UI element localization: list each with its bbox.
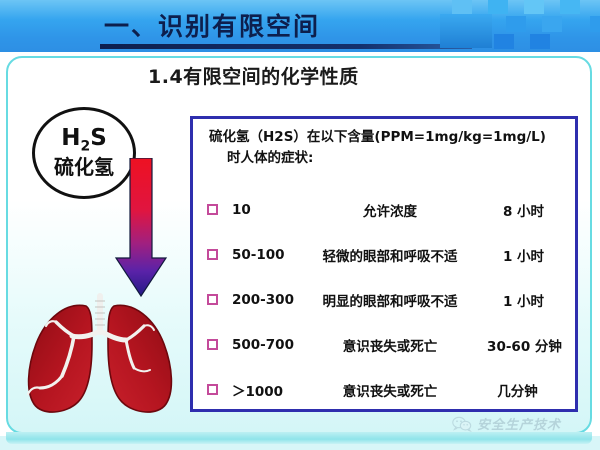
h2s-formula-2: 2 — [80, 139, 90, 155]
cell-symptom: 轻微的眼部和呼吸不适 — [304, 245, 476, 265]
slide-header: 一、识别有限空间 — [0, 0, 600, 52]
title-underline — [100, 44, 472, 49]
cell-duration: 1 小时 — [476, 290, 575, 310]
down-arrow-icon — [113, 158, 169, 298]
cell-concentration: ＞1000 — [218, 380, 304, 400]
bullet-square-icon — [207, 294, 218, 305]
h2s-chinese-name: 硫化氢 — [54, 156, 114, 179]
cell-symptom: 意识丧失或死亡 — [304, 380, 476, 400]
header-checker-pattern — [440, 0, 600, 52]
cell-symptom: 允许浓度 — [304, 200, 476, 220]
cell-duration: 几分钟 — [476, 380, 575, 400]
cell-symptom: 意识丧失或死亡 — [304, 335, 476, 355]
bullet-square-icon — [207, 249, 218, 260]
table-row: 200-300 明显的眼部和呼吸不适 1 小时 — [193, 277, 575, 322]
table-row: 50-100 轻微的眼部和呼吸不适 1 小时 — [193, 232, 575, 277]
symptom-table-box: 硫化氢（H2S）在以下含量(PPM=1mg/kg=1mg/L) 时人体的症状: … — [190, 116, 578, 412]
bottom-bar — [6, 432, 592, 444]
section-subtitle: 1.4有限空间的化学性质 — [148, 62, 359, 89]
cell-concentration: 10 — [218, 202, 304, 218]
lungs-illustration — [22, 292, 182, 422]
wechat-icon — [452, 416, 472, 432]
cell-concentration: 200-300 — [218, 292, 304, 308]
down-arrow — [113, 158, 169, 298]
cell-concentration: 50-100 — [218, 247, 304, 263]
h2s-formula-s: S — [90, 125, 107, 151]
watermark-text: 安全生产技术 — [477, 414, 561, 433]
heading-line-2: 时人体的症状: — [209, 148, 569, 169]
cell-duration: 8 小时 — [476, 200, 575, 220]
table-row: 10 允许浓度 8 小时 — [193, 187, 575, 232]
cell-duration: 30-60 分钟 — [476, 335, 575, 355]
table-row: ＞1000 意识丧失或死亡 几分钟 — [193, 367, 575, 412]
cell-concentration: 500-700 — [218, 337, 304, 353]
watermark: 安全生产技术 — [452, 414, 561, 433]
bullet-square-icon — [207, 204, 218, 215]
symptom-rows: 10 允许浓度 8 小时 50-100 轻微的眼部和呼吸不适 1 小时 200-… — [193, 187, 575, 412]
cell-symptom: 明显的眼部和呼吸不适 — [304, 290, 476, 310]
bullet-square-icon — [207, 384, 218, 395]
slide: 一、识别有限空间 1.4有限空间的化学性质 H2S 硫化氢 — [0, 0, 600, 450]
table-row: 500-700 意识丧失或死亡 30-60 分钟 — [193, 322, 575, 367]
h2s-formula-h: H — [61, 125, 80, 151]
heading-line-1: 硫化氢（H2S）在以下含量(PPM=1mg/kg=1mg/L) — [209, 129, 546, 145]
h2s-formula: H2S — [61, 127, 107, 154]
lungs-icon — [22, 292, 182, 422]
cell-duration: 1 小时 — [476, 245, 575, 265]
symptom-table-heading: 硫化氢（H2S）在以下含量(PPM=1mg/kg=1mg/L) 时人体的症状: — [209, 127, 569, 169]
page-title: 一、识别有限空间 — [104, 7, 320, 43]
bullet-square-icon — [207, 339, 218, 350]
